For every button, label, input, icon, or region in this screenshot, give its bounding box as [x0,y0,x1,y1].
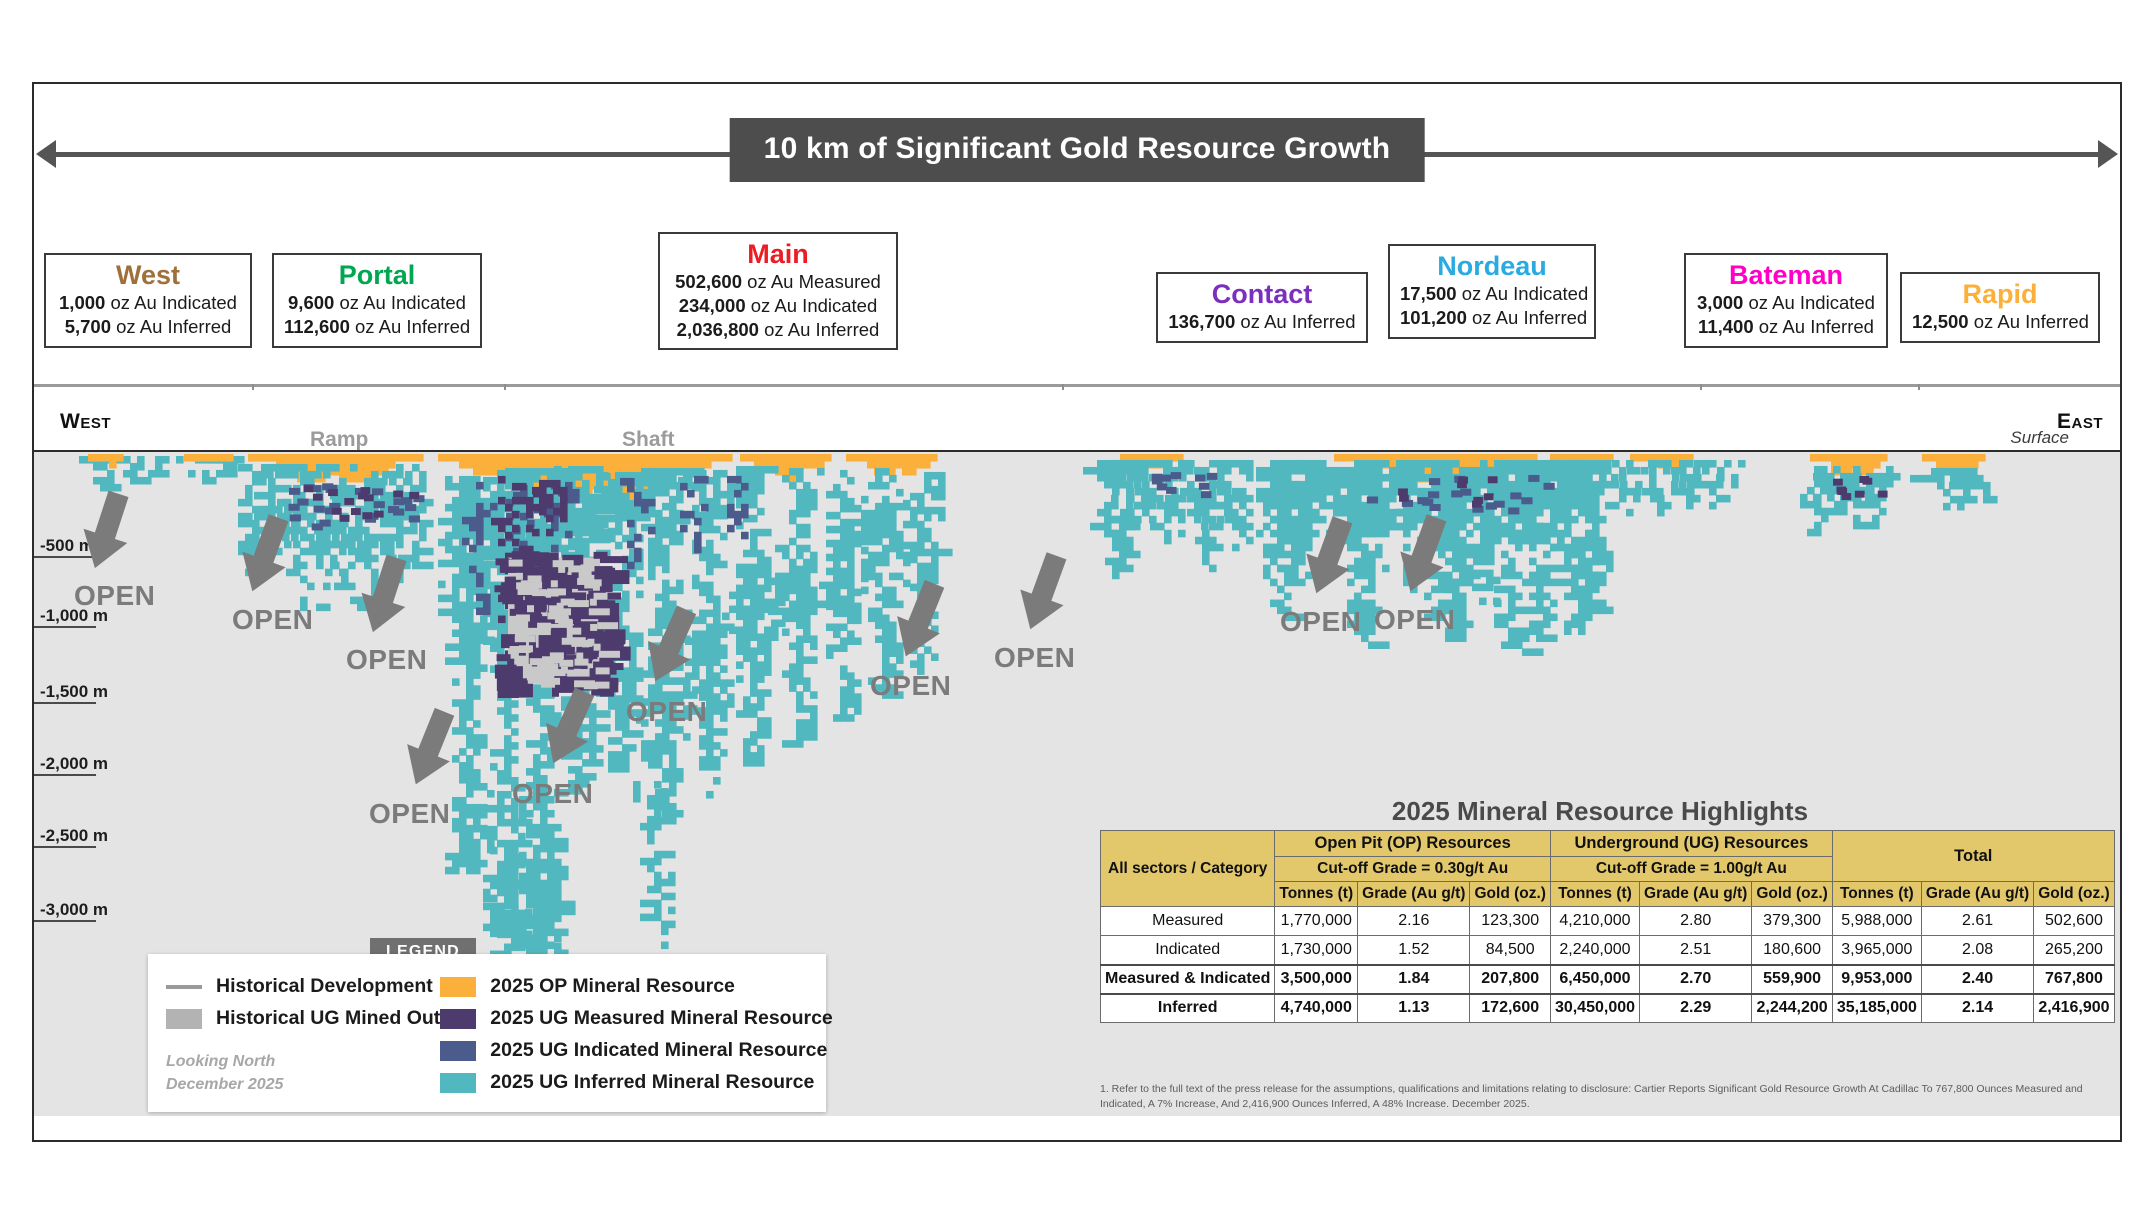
table-data-cell: 4,740,000 [1275,994,1358,1023]
sector-resource-value: 9,600 [288,292,334,313]
sector-box-west: West1,000 oz Au Indicated5,700 oz Au Inf… [44,253,252,348]
sector-box-main: Main502,600 oz Au Measured234,000 oz Au … [658,232,898,350]
sector-resource-value: 17,500 [1400,283,1457,304]
table-data-cell: 30,450,000 [1550,994,1639,1023]
legend-item: Historical UG Mined Out [166,1004,440,1033]
legend-column-resources: 2025 OP Mineral Resource2025 UG Measured… [440,972,832,1102]
table-data-cell: 379,300 [1752,907,1832,936]
table-footnote: 1. Refer to the full text of the press r… [1100,1082,2100,1112]
sector-box-portal: Portal9,600 oz Au Indicated112,600 oz Au… [272,253,482,348]
table-data-cell: 84,500 [1470,936,1550,965]
legend-note: Looking NorthDecember 2025 [166,1050,440,1096]
sector-resource-line: 234,000 oz Au Indicated [670,294,886,318]
depth-tick-mark [34,920,96,922]
table-data-cell: 180,600 [1752,936,1832,965]
sector-resource-line: 3,000 oz Au Indicated [1696,291,1876,315]
table-subheader: Gold (oz.) [1752,882,1832,907]
table-data-cell: 2.80 [1640,907,1752,936]
table-data-cell: 5,988,000 [1832,907,1921,936]
table-data-cell: 3,500,000 [1275,965,1358,994]
sector-name: Main [670,239,886,269]
sector-name: Rapid [1912,279,2088,309]
table-data-cell: 6,450,000 [1550,965,1639,994]
table-corner-header: All sectors / Category [1101,831,1275,907]
legend-note-line: Looking North [166,1050,440,1073]
table-title: 2025 Mineral Resource Highlights [1100,796,2100,827]
sector-resource-value: 502,600 [675,271,742,292]
open-label: OPEN [1374,604,1455,636]
table-data-cell: 1.13 [1358,994,1470,1023]
sector-resource-value: 11,400 [1698,316,1754,337]
table-data-cell: 502,600 [2034,907,2114,936]
depth-tick-mark [34,846,96,848]
banner-arrow-right-icon [2098,140,2118,168]
open-label: OPEN [1280,606,1361,638]
table-head: All sectors / Category Open Pit (OP) Res… [1101,831,2115,907]
table-category-cell: Indicated [1101,936,1275,965]
depth-tick-label: -1,500 m [40,682,108,702]
table-row: Measured1,770,0002.16123,3004,210,0002.8… [1101,907,2115,936]
open-label: OPEN [369,798,450,830]
legend-note-line: December 2025 [166,1073,440,1096]
table-data-cell: 2.61 [1921,907,2033,936]
table-data-cell: 3,965,000 [1832,936,1921,965]
ramp-label: Ramp [310,428,368,452]
table-data-cell: 2.40 [1921,965,2033,994]
table-data-cell: 2.08 [1921,936,2033,965]
poster-root: 10 km of Significant Gold Resource Growt… [0,0,2155,1212]
table-data-cell: 1,730,000 [1275,936,1358,965]
sector-resource-line: 5,700 oz Au Inferred [56,315,240,339]
sector-name: Bateman [1696,260,1876,290]
table-data-cell: 2,416,900 [2034,994,2114,1023]
sector-resource-value: 101,200 [1400,307,1467,328]
sector-resource-value: 112,600 [284,316,350,337]
sector-resource-value: 1,000 [59,292,105,313]
table-subheader: Gold (oz.) [1470,882,1550,907]
table-subheader: Tonnes (t) [1550,882,1639,907]
legend-item: 2025 OP Mineral Resource [440,972,832,1001]
table-group-total: Total [1832,831,2114,882]
table-data-cell: 2.14 [1921,994,2033,1023]
table-data-cell: 2.51 [1640,936,1752,965]
legend-label: 2025 UG Measured Mineral Resource [490,1007,832,1030]
table-data-cell: 207,800 [1470,965,1550,994]
legend-panel: Historical DevelopmentHistorical UG Mine… [148,954,826,1112]
table-data-cell: 123,300 [1470,907,1550,936]
legend-label: Historical UG Mined Out [216,1007,440,1030]
table-subheader: Grade (Au g/t) [1640,882,1752,907]
depth-tick-mark [34,774,96,776]
sector-resource-line: 136,700 oz Au Inferred [1168,310,1356,334]
table-category-cell: Measured & Indicated [1101,965,1275,994]
table-row: Measured & Indicated3,500,0001.84207,800… [1101,965,2115,994]
depth-tick-label: -3,000 m [40,900,108,920]
table-category-cell: Inferred [1101,994,1275,1023]
sector-resource-value: 2,036,800 [677,319,759,340]
compass-west-label: West [60,410,111,434]
legend-swatch [166,1009,202,1029]
sector-resource-line: 17,500 oz Au Indicated [1400,282,1584,306]
depth-tick-label: -2,000 m [40,754,108,774]
table-subheader: Tonnes (t) [1275,882,1358,907]
legend-label: 2025 UG Inferred Mineral Resource [490,1071,814,1094]
sector-resource-line: 502,600 oz Au Measured [670,270,886,294]
sector-resource-line: 9,600 oz Au Indicated [284,291,470,315]
sector-name: West [56,260,240,290]
table-subheader: Tonnes (t) [1832,882,1921,907]
table-data-cell: 559,900 [1752,965,1832,994]
sector-resource-line: 101,200 oz Au Inferred [1400,306,1584,330]
banner-arrow-left-icon [36,140,56,168]
table-data-cell: 2.70 [1640,965,1752,994]
legend-item: 2025 UG Indicated Mineral Resource [440,1036,832,1065]
legend-swatch [166,985,202,989]
table-data-cell: 2,240,000 [1550,936,1639,965]
sector-resource-line: 11,400 oz Au Inferred [1696,315,1876,339]
depth-tick-mark [34,626,96,628]
table-cutoff-op: Cut-off Grade = 0.30g/t Au [1275,857,1551,882]
legend-swatch [440,977,476,997]
table-data-cell: 4,210,000 [1550,907,1639,936]
table-group-row: All sectors / Category Open Pit (OP) Res… [1101,831,2115,857]
sector-name: Portal [284,260,470,290]
table-data-cell: 9,953,000 [1832,965,1921,994]
table-data-cell: 2.16 [1358,907,1470,936]
sector-box-rapid: Rapid12,500 oz Au Inferred [1900,272,2100,343]
sector-resource-value: 5,700 [65,316,111,337]
legend-label: 2025 UG Indicated Mineral Resource [490,1039,827,1062]
open-label: OPEN [626,696,707,728]
table-subheader: Grade (Au g/t) [1921,882,2033,907]
table-subheader: Grade (Au g/t) [1358,882,1470,907]
table-row: Indicated1,730,0001.5284,5002,240,0002.5… [1101,936,2115,965]
mineral-resource-table: All sectors / Category Open Pit (OP) Res… [1100,830,2115,1023]
table-body: Measured1,770,0002.16123,3004,210,0002.8… [1101,907,2115,1023]
open-label: OPEN [346,644,427,676]
depth-tick-mark [34,702,96,704]
surface-label: Surface [2010,428,2069,448]
sector-box-nordeau: Nordeau17,500 oz Au Indicated101,200 oz … [1388,244,1596,339]
table-data-cell: 1.52 [1358,936,1470,965]
table-category-cell: Measured [1101,907,1275,936]
sector-name: Contact [1168,279,1356,309]
legend-swatch [440,1073,476,1093]
legend-item: 2025 UG Measured Mineral Resource [440,1004,832,1033]
table-data-cell: 767,800 [2034,965,2114,994]
table-data-cell: 2,244,200 [1752,994,1832,1023]
legend-item: Historical Development [166,972,440,1001]
legend-item: 2025 UG Inferred Mineral Resource [440,1068,832,1097]
table-row: Inferred4,740,0001.13172,60030,450,0002.… [1101,994,2115,1023]
legend-swatch [440,1009,476,1029]
table-data-cell: 2.29 [1640,994,1752,1023]
table-data-cell: 265,200 [2034,936,2114,965]
legend-column-historical: Historical DevelopmentHistorical UG Mine… [166,972,440,1102]
sector-resource-value: 136,700 [1168,311,1235,332]
depth-tick-label: -2,500 m [40,826,108,846]
table-cutoff-ug: Cut-off Grade = 1.00g/t Au [1550,857,1832,882]
sector-name: Nordeau [1400,251,1584,281]
table-group-ug: Underground (UG) Resources [1550,831,1832,857]
table-group-op: Open Pit (OP) Resources [1275,831,1551,857]
open-label: OPEN [232,604,313,636]
sector-resource-line: 1,000 oz Au Indicated [56,291,240,315]
sector-resource-value: 234,000 [679,295,746,316]
legend-label: Historical Development [216,975,433,998]
open-label: OPEN [512,778,593,810]
sector-resource-line: 112,600 oz Au Inferred [284,315,470,339]
legend-label: 2025 OP Mineral Resource [490,975,735,998]
open-label: OPEN [74,580,155,612]
sector-resource-value: 3,000 [1697,292,1743,313]
table-data-cell: 172,600 [1470,994,1550,1023]
sector-resource-line: 2,036,800 oz Au Inferred [670,318,886,342]
table-data-cell: 35,185,000 [1832,994,1921,1023]
legend-swatch [440,1041,476,1061]
growth-banner: 10 km of Significant Gold Resource Growt… [34,118,2120,188]
table-data-cell: 1,770,000 [1275,907,1358,936]
table-subheader: Gold (oz.) [2034,882,2114,907]
sector-baseline [34,384,2120,387]
sector-resource-value: 12,500 [1912,311,1969,332]
sector-box-contact: Contact136,700 oz Au Inferred [1156,272,1368,343]
sector-box-bateman: Bateman3,000 oz Au Indicated11,400 oz Au… [1684,253,1888,348]
shaft-label: Shaft [622,428,675,452]
sector-resource-line: 12,500 oz Au Inferred [1912,310,2088,334]
open-label: OPEN [870,670,951,702]
banner-title: 10 km of Significant Gold Resource Growt… [730,118,1425,182]
table-data-cell: 1.84 [1358,965,1470,994]
open-label: OPEN [994,642,1075,674]
